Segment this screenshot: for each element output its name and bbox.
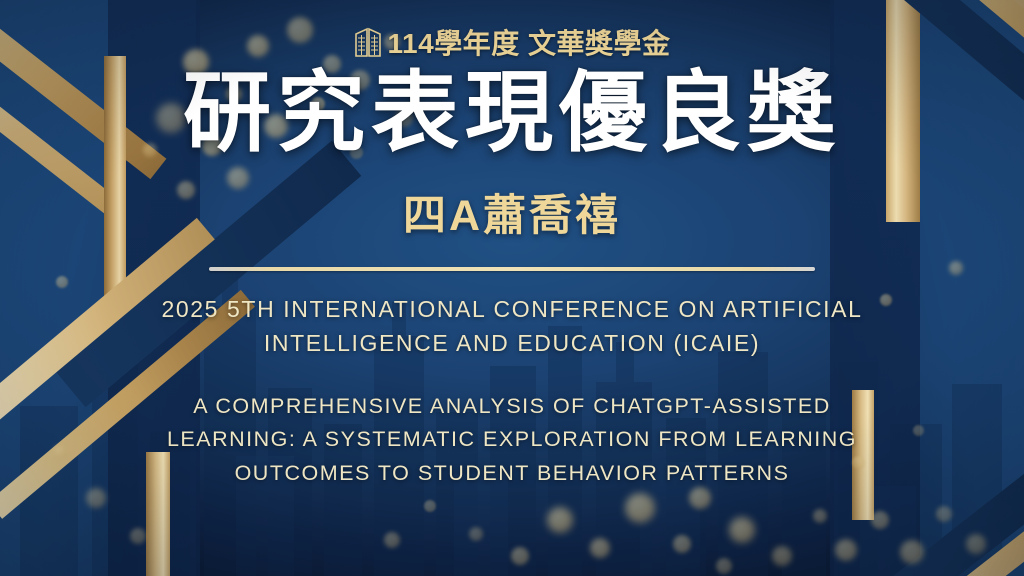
gold-divider	[209, 267, 815, 271]
slide-content: 114學年度 文華獎學金 研究表現優良獎 四A蕭喬禧 2025 5TH INTE…	[0, 0, 1024, 576]
scholarship-kicker-text: 114學年度 文華獎學金	[388, 22, 671, 62]
award-slide: 114學年度 文華獎學金 研究表現優良獎 四A蕭喬禧 2025 5TH INTE…	[0, 0, 1024, 576]
awardee-name: 四A蕭喬禧	[403, 181, 621, 243]
building-icon	[354, 26, 384, 58]
award-main-title: 研究表現優良獎	[183, 66, 841, 159]
conference-name: 2025 5TH INTERNATIONAL CONFERENCE ON ART…	[132, 293, 892, 360]
paper-title: A COMPREHENSIVE ANALYSIS OF CHATGPT-ASSI…	[132, 390, 892, 490]
scholarship-kicker: 114學年度 文華獎學金	[354, 22, 671, 62]
